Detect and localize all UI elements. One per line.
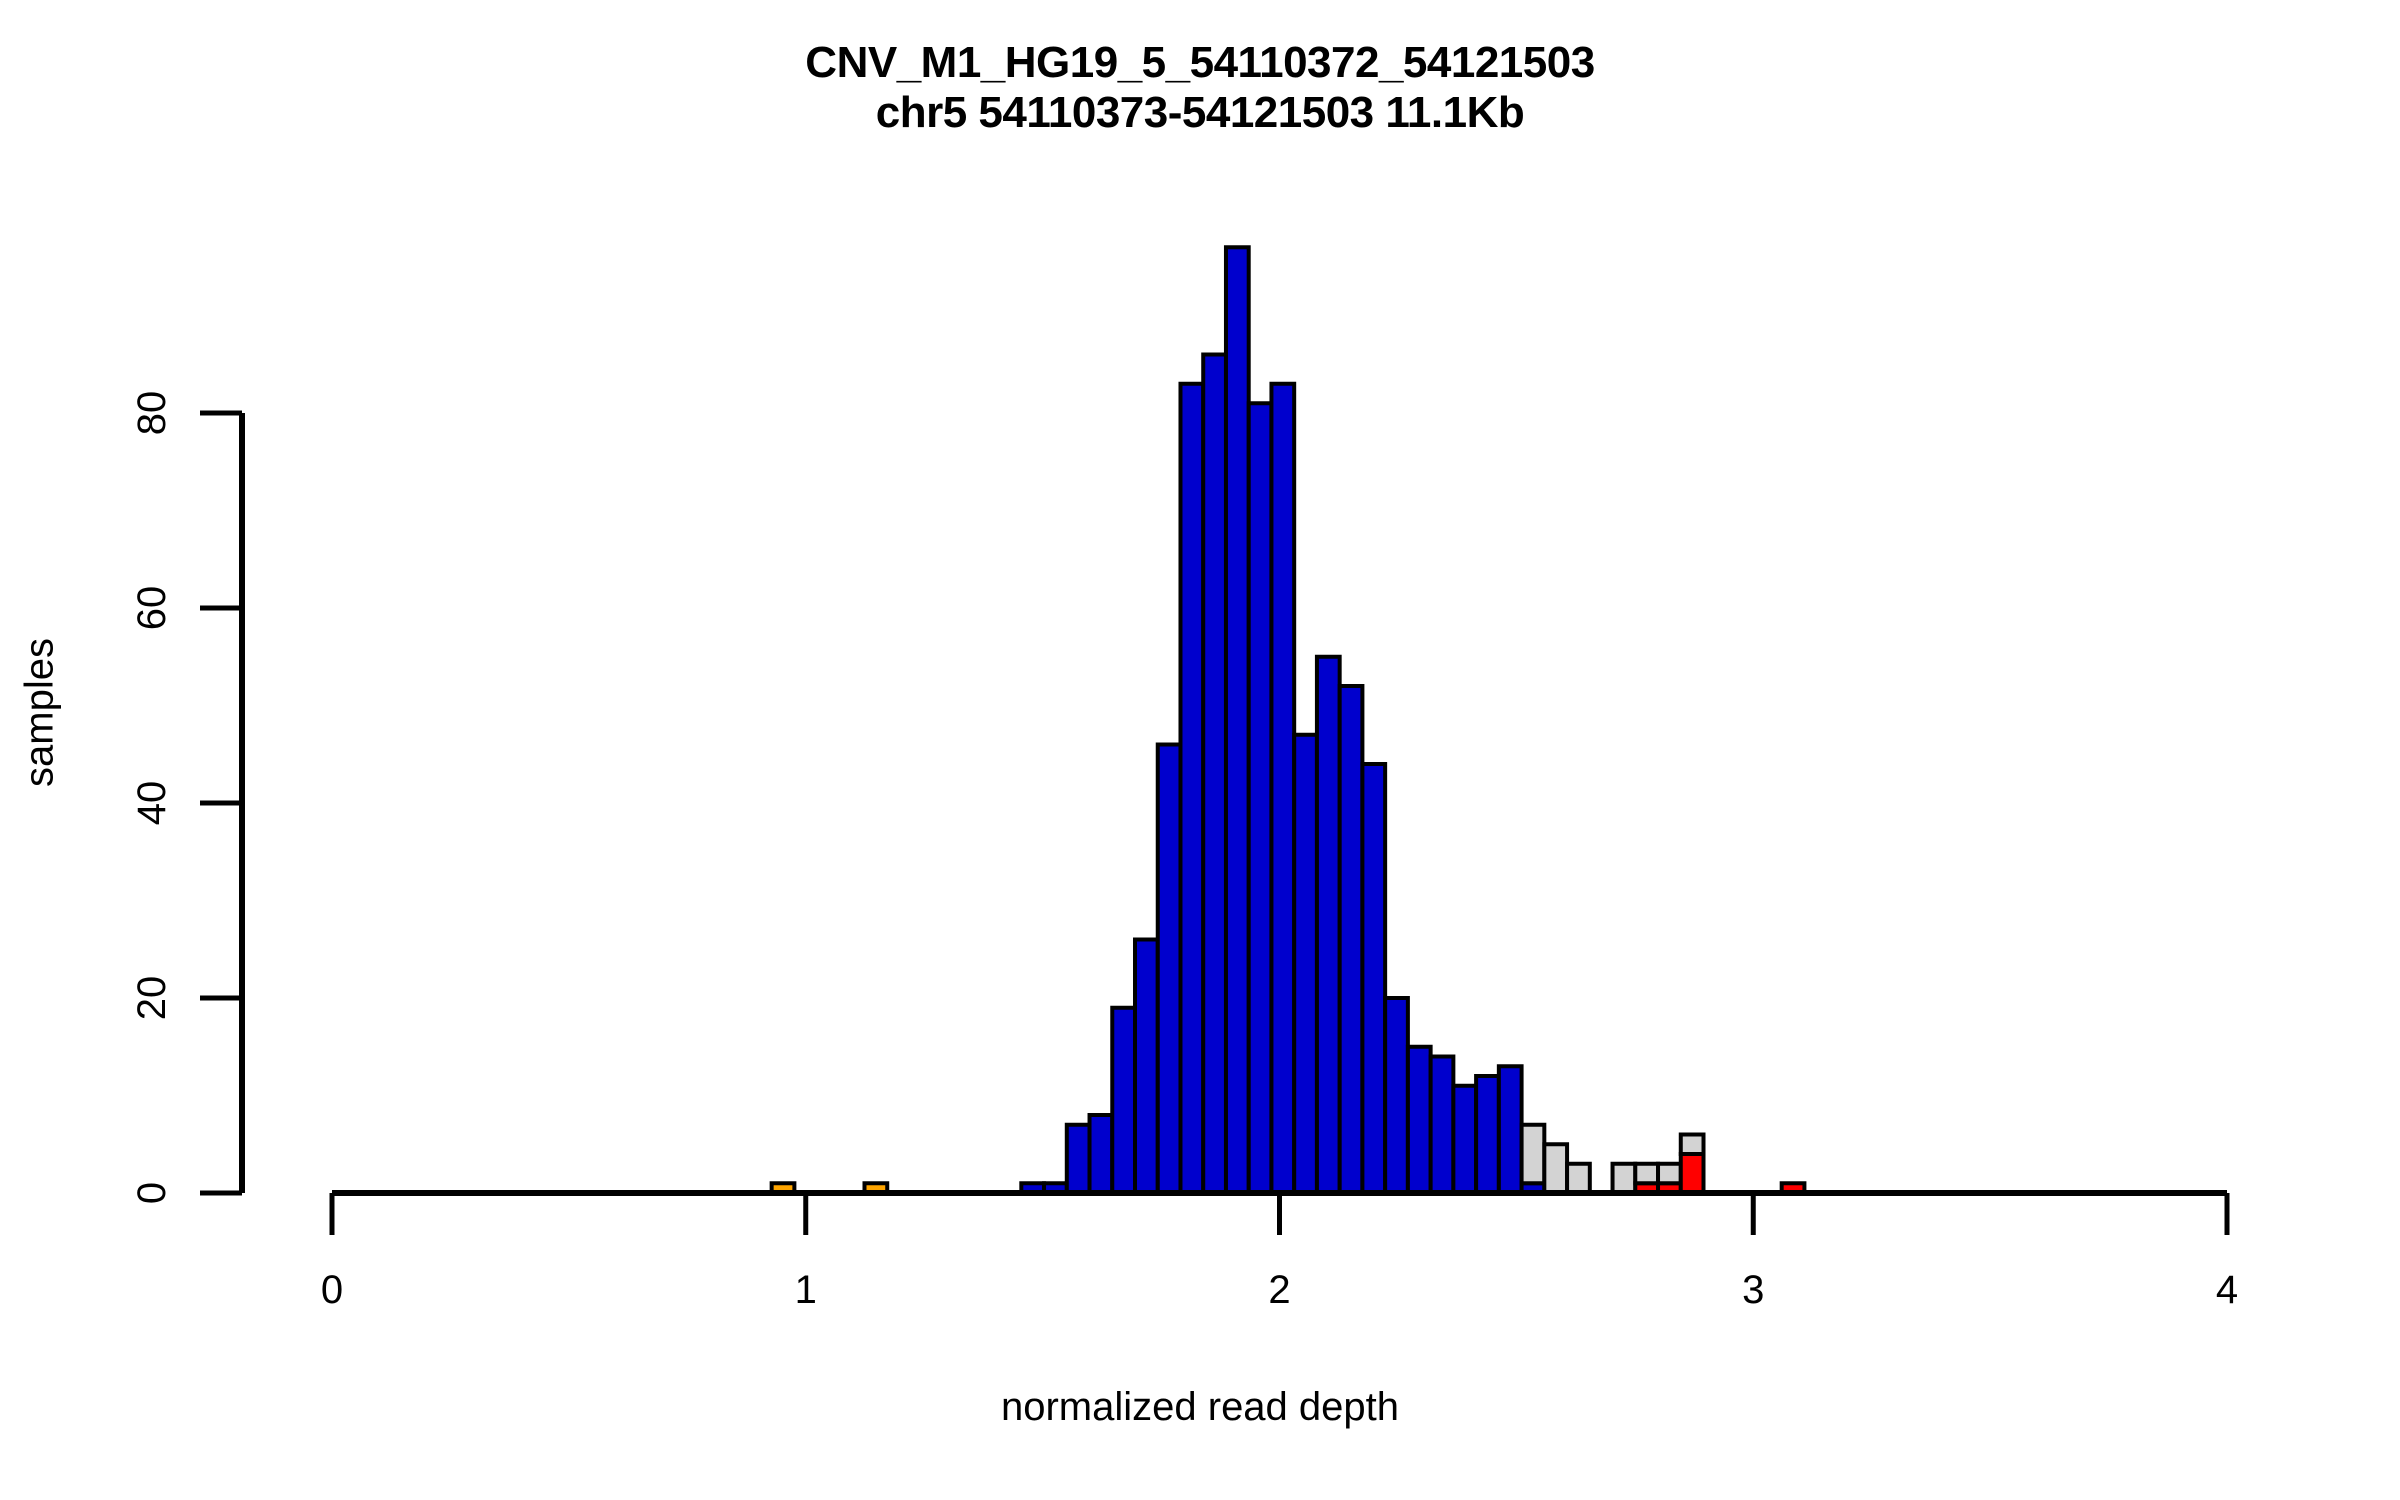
x-axis-tick-label: 4 — [2216, 1268, 2238, 1312]
histogram-bar-blue — [1271, 384, 1294, 1193]
histogram-bar-gray — [1635, 1164, 1658, 1184]
x-axis-tick-label: 0 — [321, 1268, 343, 1312]
histogram-bar-blue — [1112, 1008, 1135, 1193]
histogram-bar-gray — [1613, 1164, 1636, 1193]
histogram-bar-blue — [1158, 745, 1181, 1194]
x-axis-tick-label: 3 — [1742, 1268, 1764, 1312]
histogram-bar-gray — [1522, 1125, 1545, 1184]
y-axis-tick-label: 0 — [130, 1182, 174, 1204]
histogram-bar-blue — [1431, 1057, 1454, 1194]
histogram-bar-blue — [1362, 764, 1385, 1193]
y-axis-tick-label: 80 — [130, 391, 174, 436]
histogram-bar-blue — [1203, 355, 1226, 1194]
y-axis-tick-label: 40 — [130, 781, 174, 826]
histogram-bar-blue — [1385, 998, 1408, 1193]
y-axis-tick-label: 20 — [130, 976, 174, 1021]
histogram-bar-blue — [1340, 686, 1363, 1193]
histogram-bar-blue — [1067, 1125, 1090, 1193]
histogram-bar-gray — [1567, 1164, 1590, 1193]
plot-root: CNV_M1_HG19_5_54110372_54121503 chr5 541… — [0, 0, 2400, 1500]
histogram-bar-blue — [1135, 940, 1158, 1194]
histogram-bar-blue — [1180, 384, 1203, 1193]
histogram-bar-red — [1681, 1154, 1704, 1193]
histogram-bar-blue — [1476, 1076, 1499, 1193]
histogram-bar-blue — [1317, 657, 1340, 1193]
histogram-bar-blue — [1249, 403, 1272, 1193]
histogram-bars — [772, 247, 1805, 1193]
histogram-bar-blue — [1226, 247, 1249, 1193]
histogram-bar-gray — [1681, 1135, 1704, 1155]
histogram-svg: 01234020406080 — [0, 0, 2400, 1500]
histogram-bar-blue — [1294, 735, 1317, 1193]
x-axis-tick-label: 1 — [795, 1268, 817, 1312]
histogram-bar-blue — [1453, 1086, 1476, 1193]
x-axis-tick-label: 2 — [1268, 1268, 1290, 1312]
histogram-bar-blue — [1499, 1066, 1522, 1193]
histogram-bar-gray — [1658, 1164, 1681, 1184]
histogram-bar-blue — [1090, 1115, 1113, 1193]
y-axis-tick-label: 60 — [130, 586, 174, 631]
histogram-bar-gray — [1544, 1144, 1567, 1193]
histogram-bar-blue — [1408, 1047, 1431, 1193]
